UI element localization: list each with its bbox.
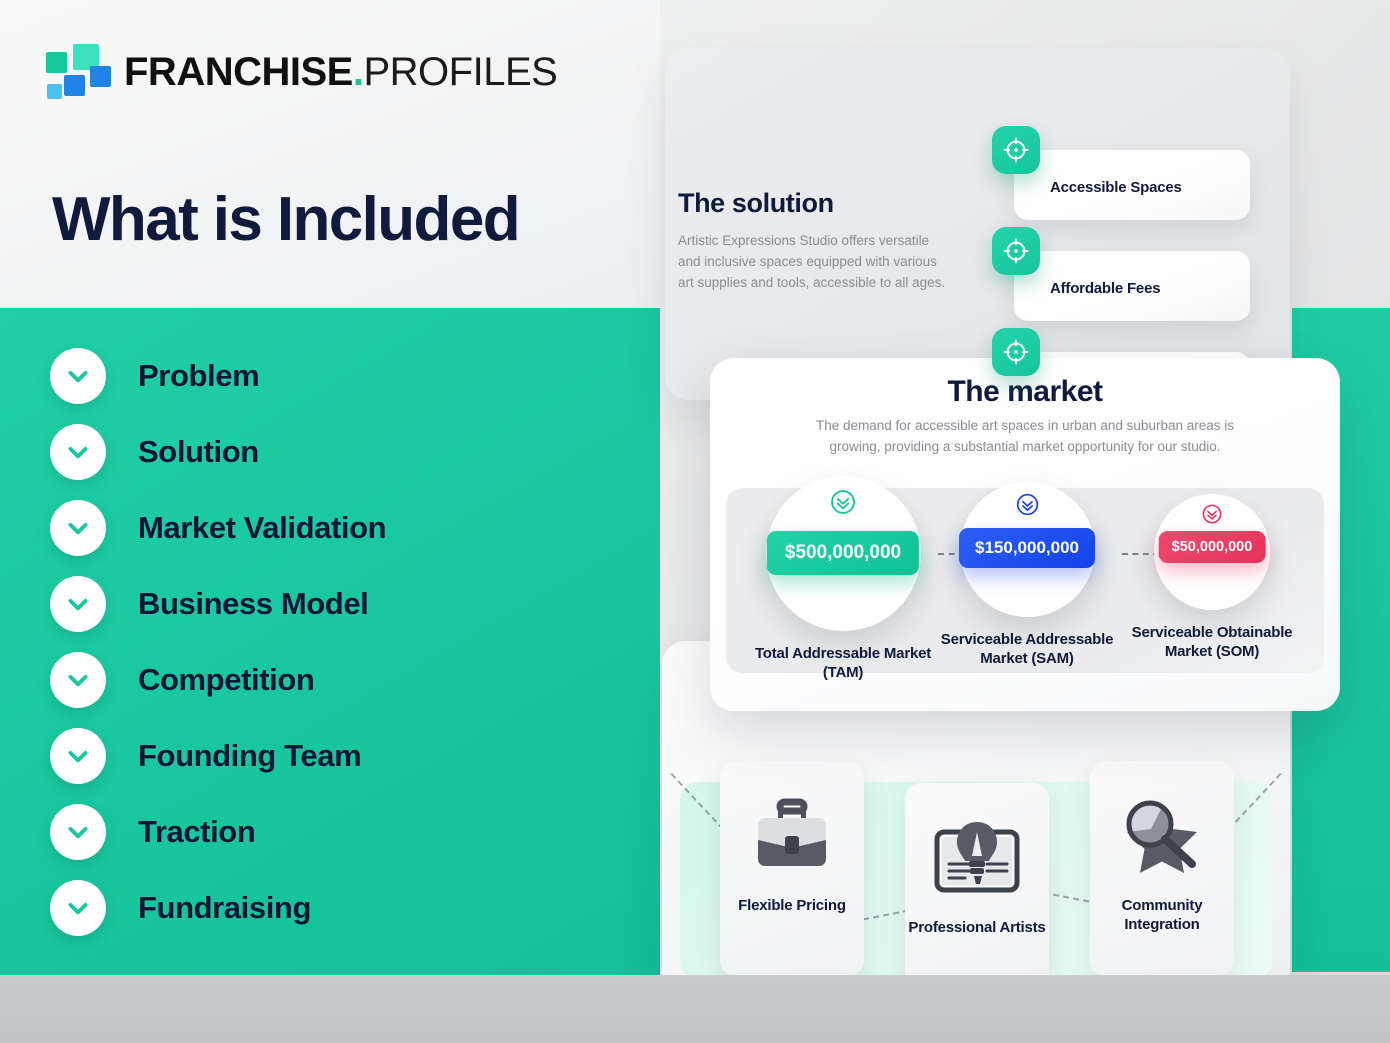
list-item[interactable]: Competition bbox=[50, 652, 386, 708]
solution-feature-item[interactable]: Accessible Spaces bbox=[992, 150, 1250, 220]
market-segment-label: Serviceable Addressable Market (SAM) bbox=[923, 631, 1131, 669]
feature-card[interactable]: Community Integration bbox=[1090, 761, 1234, 976]
market-segment-sam[interactable]: $150,000,000 Serviceable Addressable Mar… bbox=[923, 482, 1131, 669]
list-item[interactable]: Problem bbox=[50, 348, 386, 404]
chevron-down-icon bbox=[50, 348, 106, 404]
solution-feature-label: Accessible Spaces bbox=[1050, 179, 1182, 196]
double-chevron-down-icon bbox=[1015, 492, 1040, 522]
list-item[interactable]: Founding Team bbox=[50, 728, 386, 784]
squares-logo-icon bbox=[46, 44, 108, 100]
target-crosshair-icon bbox=[992, 328, 1040, 376]
chevron-down-icon bbox=[50, 728, 106, 784]
market-circle: $50,000,000 bbox=[1154, 494, 1270, 610]
list-item-label: Competition bbox=[138, 662, 314, 698]
feature-card-label: Community Integration bbox=[1090, 897, 1234, 935]
solution-card: The solution Artistic Expressions Studio… bbox=[665, 48, 1290, 400]
list-item[interactable]: Traction bbox=[50, 804, 386, 860]
market-circle: $500,000,000 bbox=[766, 476, 921, 631]
list-item-label: Problem bbox=[138, 358, 259, 394]
market-description: The demand for accessible art spaces in … bbox=[806, 416, 1244, 457]
list-item-label: Traction bbox=[138, 814, 255, 850]
double-chevron-down-icon bbox=[829, 488, 857, 521]
list-item[interactable]: Business Model bbox=[50, 576, 386, 632]
solution-feature-item[interactable]: Affordable Fees bbox=[992, 251, 1250, 321]
chevron-down-icon bbox=[50, 652, 106, 708]
feature-card[interactable]: Flexible Pricing bbox=[720, 761, 864, 976]
checklist: Problem Solution Market Validation Busin… bbox=[50, 348, 386, 936]
brand-name-bold: FRANCHISE bbox=[124, 50, 353, 94]
target-crosshair-icon bbox=[992, 227, 1040, 275]
chevron-down-icon bbox=[50, 576, 106, 632]
list-item-label: Market Validation bbox=[138, 510, 386, 546]
left-header-area: FRANCHISE.PROFILES What is Included bbox=[0, 0, 660, 308]
market-circle: $150,000,000 bbox=[960, 482, 1095, 617]
feature-card[interactable]: Professional Artists bbox=[905, 783, 1049, 994]
market-card: The market The demand for accessible art… bbox=[710, 358, 1340, 711]
market-segment-label: Serviceable Obtainable Market (SOM) bbox=[1108, 624, 1316, 662]
solution-feature-label: Affordable Fees bbox=[1050, 280, 1160, 297]
market-value-badge: $500,000,000 bbox=[767, 531, 919, 575]
feature-card-label: Flexible Pricing bbox=[738, 897, 846, 916]
chevron-down-icon bbox=[50, 804, 106, 860]
list-item[interactable]: Market Validation bbox=[50, 500, 386, 556]
market-segment-label: Total Addressable Market (TAM) bbox=[739, 645, 947, 683]
solution-description: Artistic Expressions Studio offers versa… bbox=[678, 231, 950, 294]
market-title: The market bbox=[710, 375, 1340, 409]
brand-dot: . bbox=[353, 50, 364, 94]
bottom-strip bbox=[0, 975, 1390, 1043]
brand-name-light: PROFILES bbox=[363, 50, 557, 94]
page-title: What is Included bbox=[52, 186, 519, 254]
market-value-badge: $150,000,000 bbox=[959, 528, 1095, 568]
list-item-label: Founding Team bbox=[138, 738, 361, 774]
list-item[interactable]: Fundraising bbox=[50, 880, 386, 936]
chevron-down-icon bbox=[50, 424, 106, 480]
brand-wordmark: FRANCHISE.PROFILES bbox=[124, 52, 557, 92]
market-segment-som[interactable]: $50,000,000 Serviceable Obtainable Marke… bbox=[1108, 494, 1316, 662]
market-value-badge: $50,000,000 bbox=[1159, 531, 1266, 563]
list-item-label: Solution bbox=[138, 434, 259, 470]
lightbulb-certificate-icon bbox=[931, 809, 1023, 907]
star-magnifier-icon bbox=[1116, 787, 1208, 885]
chevron-down-icon bbox=[50, 500, 106, 556]
chevron-down-icon bbox=[50, 880, 106, 936]
brand-logo[interactable]: FRANCHISE.PROFILES bbox=[46, 44, 557, 100]
target-crosshair-icon bbox=[992, 126, 1040, 174]
checklist-panel: Problem Solution Market Validation Busin… bbox=[0, 308, 660, 975]
list-item[interactable]: Solution bbox=[50, 424, 386, 480]
logo-square-blue-small bbox=[47, 84, 62, 99]
list-item-label: Fundraising bbox=[138, 890, 311, 926]
logo-square-teal-dark bbox=[46, 52, 67, 73]
market-segment-tam[interactable]: $500,000,000 Total Addressable Market (T… bbox=[739, 476, 947, 683]
briefcase-icon bbox=[750, 787, 834, 885]
logo-square-blue-right bbox=[90, 66, 111, 87]
double-chevron-down-icon bbox=[1201, 503, 1223, 530]
list-item-label: Business Model bbox=[138, 586, 368, 622]
solution-heading: The solution bbox=[678, 188, 834, 219]
feature-card-label: Professional Artists bbox=[908, 919, 1045, 938]
logo-square-blue-mid bbox=[64, 75, 85, 96]
